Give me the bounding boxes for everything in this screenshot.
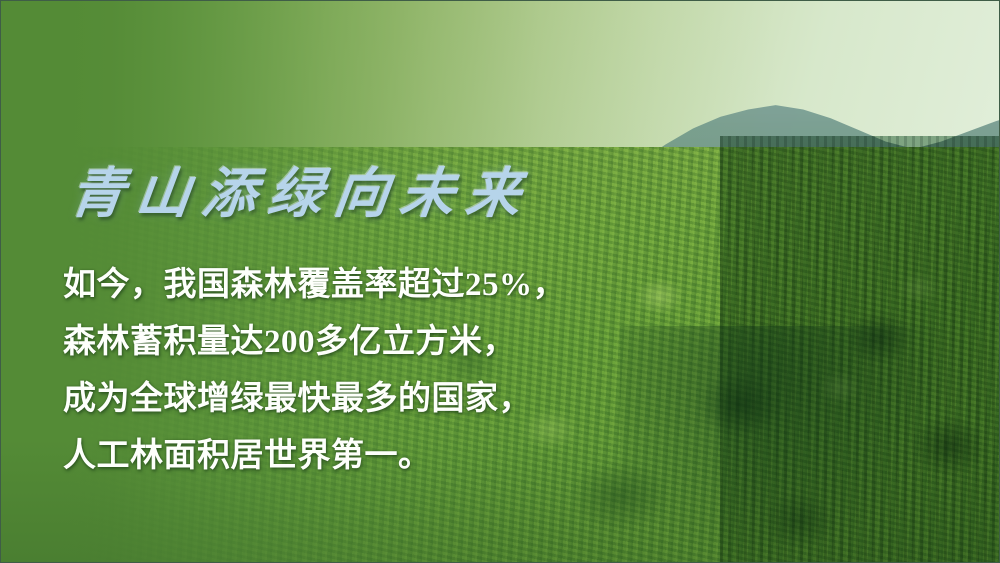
- body-line-3: 成为全球增绿最快最多的国家，: [63, 371, 566, 428]
- slide-canvas: 青山添绿向未来 如今，我国森林覆盖率超过25%， 森林蓄积量达200多亿立方米，…: [0, 0, 1000, 563]
- body-paragraph: 如今，我国森林覆盖率超过25%， 森林蓄积量达200多亿立方米， 成为全球增绿最…: [63, 257, 566, 485]
- body-line-1: 如今，我国森林覆盖率超过25%，: [63, 257, 566, 314]
- headline-title: 青山添绿向未来: [66, 149, 538, 228]
- content-layer: 青山添绿向未来 如今，我国森林覆盖率超过25%， 森林蓄积量达200多亿立方米，…: [1, 1, 999, 562]
- body-line-4: 人工林面积居世界第一。: [63, 428, 566, 485]
- body-line-2: 森林蓄积量达200多亿立方米，: [63, 314, 566, 371]
